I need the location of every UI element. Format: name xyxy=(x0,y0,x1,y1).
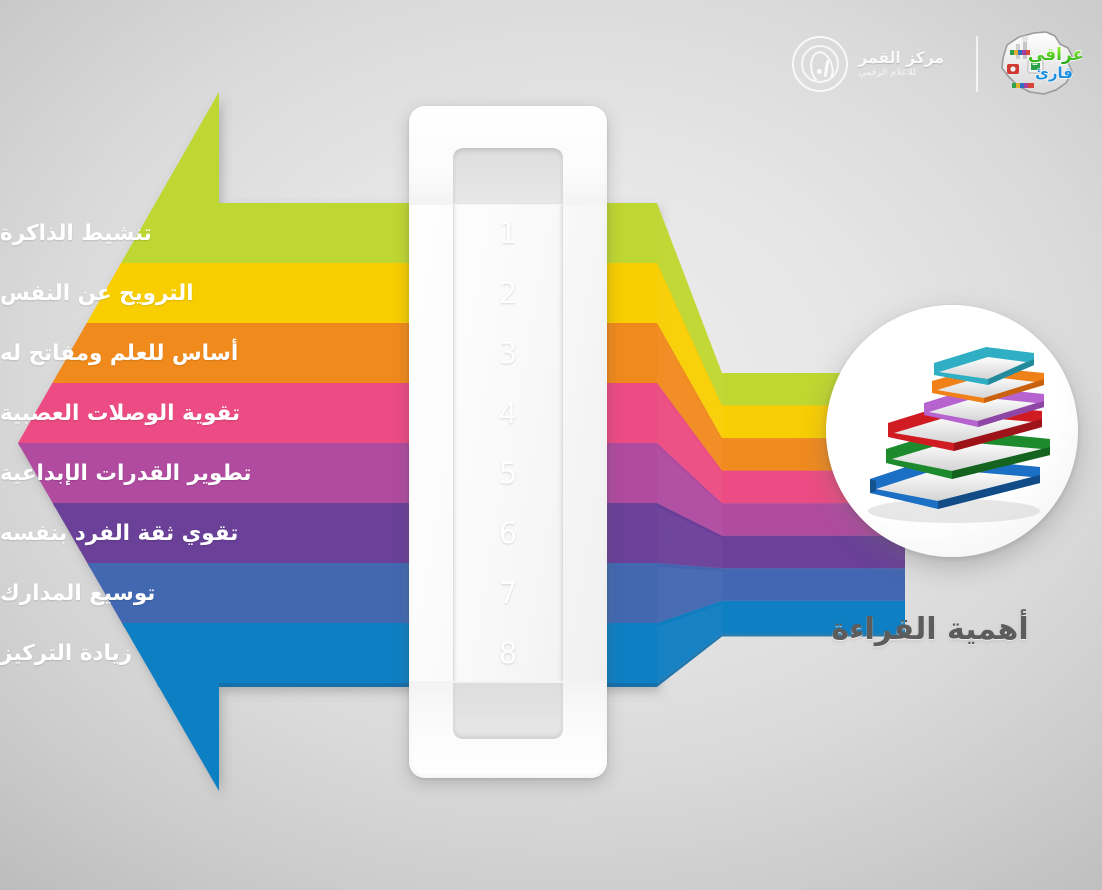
step-number-text: 7 xyxy=(499,579,517,608)
band-label-row-5: تطوير القدرات الإبداعية xyxy=(0,443,400,503)
page-title-text: أهمية القراءة xyxy=(831,612,1028,647)
band-label-text: تقوي ثقة الفرد بنفسه xyxy=(0,521,238,546)
band-label-row-3: أساس للعلم ومفاتح له xyxy=(0,323,400,383)
step-number-text: 8 xyxy=(499,639,517,668)
infographic-canvas: مركز القمر للاعلام الرقمي xyxy=(0,0,1102,890)
step-number-cell-5: 5 xyxy=(453,443,563,503)
step-number-text: 1 xyxy=(499,219,517,248)
books-circle xyxy=(826,305,1078,557)
band-labels: تنشيط الذاكرةالترويح عن النفسأساس للعلم … xyxy=(0,203,400,683)
band-label-text: تقوية الوصلات العصبية xyxy=(0,401,240,426)
page-title: أهمية القراءة xyxy=(780,612,1080,647)
step-number-cell-7: 7 xyxy=(453,563,563,623)
band-label-text: توسيع المدارك xyxy=(0,581,155,606)
band-label-row-4: تقوية الوصلات العصبية xyxy=(0,383,400,443)
step-number-cell-3: 3 xyxy=(453,323,563,383)
band-label-text: زيادة التركيز xyxy=(0,641,132,666)
step-number-text: 5 xyxy=(499,459,517,488)
step-number-text: 2 xyxy=(499,279,517,308)
band-label-row-1: تنشيط الذاكرة xyxy=(0,203,400,263)
step-number-cell-1: 1 xyxy=(453,203,563,263)
step-number-cell-8: 8 xyxy=(453,623,563,683)
band-label-row-6: تقوي ثقة الفرد بنفسه xyxy=(0,503,400,563)
step-number-text: 6 xyxy=(499,519,517,548)
band-label-row-2: الترويح عن النفس xyxy=(0,263,400,323)
band-label-text: أساس للعلم ومفاتح له xyxy=(0,341,238,366)
step-number-cell-6: 6 xyxy=(453,503,563,563)
band-label-text: الترويح عن النفس xyxy=(0,281,194,306)
step-number-text: 4 xyxy=(499,399,517,428)
band-label-text: تطوير القدرات الإبداعية xyxy=(0,461,251,486)
step-number-cell-4: 4 xyxy=(453,383,563,443)
band-label-row-8: زيادة التركيز xyxy=(0,623,400,683)
band-label-text: تنشيط الذاكرة xyxy=(0,221,152,246)
step-numbers: 12345678 xyxy=(453,203,563,683)
step-number-text: 3 xyxy=(499,339,517,368)
stack-of-books-icon xyxy=(826,305,1078,557)
step-number-cell-2: 2 xyxy=(453,263,563,323)
band-label-row-7: توسيع المدارك xyxy=(0,563,400,623)
